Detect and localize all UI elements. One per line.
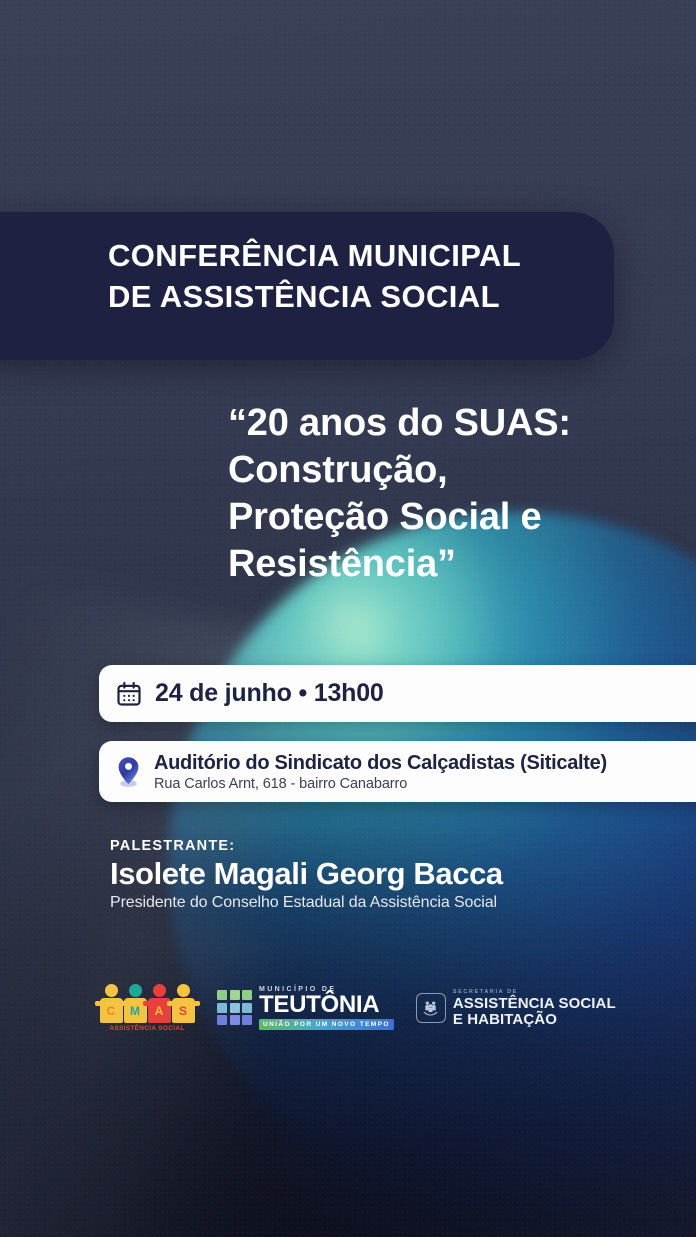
teutonia-logo: MUNICÍPIO DE TEUTÔNIA UNIÃO POR UM NOVO …: [217, 986, 394, 1030]
cmas-figures: C M A S: [100, 984, 195, 1023]
poster-canvas: CONFERÊNCIA MUNICIPAL DE ASSISTÊNCIA SOC…: [0, 0, 696, 1237]
grain-texture-overlay: [0, 0, 696, 1237]
cmas-body-s: S: [172, 998, 195, 1023]
teutonia-name: TEUTÔNIA: [259, 994, 394, 1017]
cmas-figure-s: S: [172, 984, 195, 1023]
location-bar: Auditório do Sindicato dos Calçadistas (…: [99, 741, 696, 802]
quote-line-1: “20 anos do SUAS:: [228, 400, 696, 447]
cmas-head-m: [129, 984, 142, 997]
calendar-icon: [115, 680, 143, 708]
venue-address: Rua Carlos Arnt, 618 - bairro Canabarro: [154, 776, 607, 792]
speaker-block: PALESTRANTE: Isolete Magali Georg Bacca …: [110, 838, 670, 912]
location-texts: Auditório do Sindicato dos Calçadistas (…: [154, 752, 607, 792]
date-text: 24 de junho • 13h00: [155, 679, 384, 708]
secretaria-eyebrow: SECRETARIA DE: [453, 989, 616, 995]
family-hands-icon: [416, 993, 446, 1023]
theme-quote: “20 anos do SUAS: Construção, Proteção S…: [228, 400, 696, 588]
secretaria-line-2: E HABITAÇÃO: [453, 1012, 616, 1028]
cmas-letter-c: C: [107, 1005, 116, 1017]
cmas-head-c: [105, 984, 118, 997]
teutonia-wordmark: MUNICÍPIO DE TEUTÔNIA UNIÃO POR UM NOVO …: [259, 986, 394, 1030]
cmas-head-s: [177, 984, 190, 997]
cmas-letter-a: A: [155, 1005, 164, 1017]
cmas-letter-m: M: [130, 1005, 140, 1017]
secretaria-wordmark: SECRETARIA DE ASSISTÊNCIA SOCIAL E HABIT…: [453, 989, 616, 1027]
teutonia-tagline: UNIÃO POR UM NOVO TEMPO: [263, 1021, 390, 1028]
quote-line-3: Proteção Social e: [228, 494, 696, 541]
teutonia-tagline-bar: UNIÃO POR UM NOVO TEMPO: [259, 1019, 394, 1030]
speaker-label: PALESTRANTE:: [110, 838, 670, 854]
map-pin-icon: [113, 754, 144, 789]
speaker-role: Presidente do Conselho Estadual da Assis…: [110, 894, 670, 912]
title-line-2: DE ASSISTÊNCIA SOCIAL: [108, 277, 628, 318]
date-bar: 24 de junho • 13h00: [99, 665, 696, 722]
title-line-1: CONFERÊNCIA MUNICIPAL: [108, 236, 628, 277]
logo-row: C M A S: [99, 984, 616, 1032]
secretaria-logo: SECRETARIA DE ASSISTÊNCIA SOCIAL E HABIT…: [416, 989, 616, 1027]
cmas-letter-s: S: [179, 1005, 187, 1017]
quote-line-4: Resistência”: [228, 541, 696, 588]
cmas-head-a: [153, 984, 166, 997]
title-banner-text: CONFERÊNCIA MUNICIPAL DE ASSISTÊNCIA SOC…: [108, 236, 628, 318]
secretaria-line-1: ASSISTÊNCIA SOCIAL: [453, 996, 616, 1012]
cmas-logo: C M A S: [99, 984, 195, 1032]
speaker-name: Isolete Magali Georg Bacca: [110, 857, 670, 892]
venue-name: Auditório do Sindicato dos Calçadistas (…: [154, 752, 607, 775]
quote-line-2: Construção,: [228, 447, 696, 494]
cmas-subtitle: ASSISTÊNCIA SOCIAL: [109, 1025, 184, 1032]
teutonia-grid-icon: [217, 990, 252, 1025]
